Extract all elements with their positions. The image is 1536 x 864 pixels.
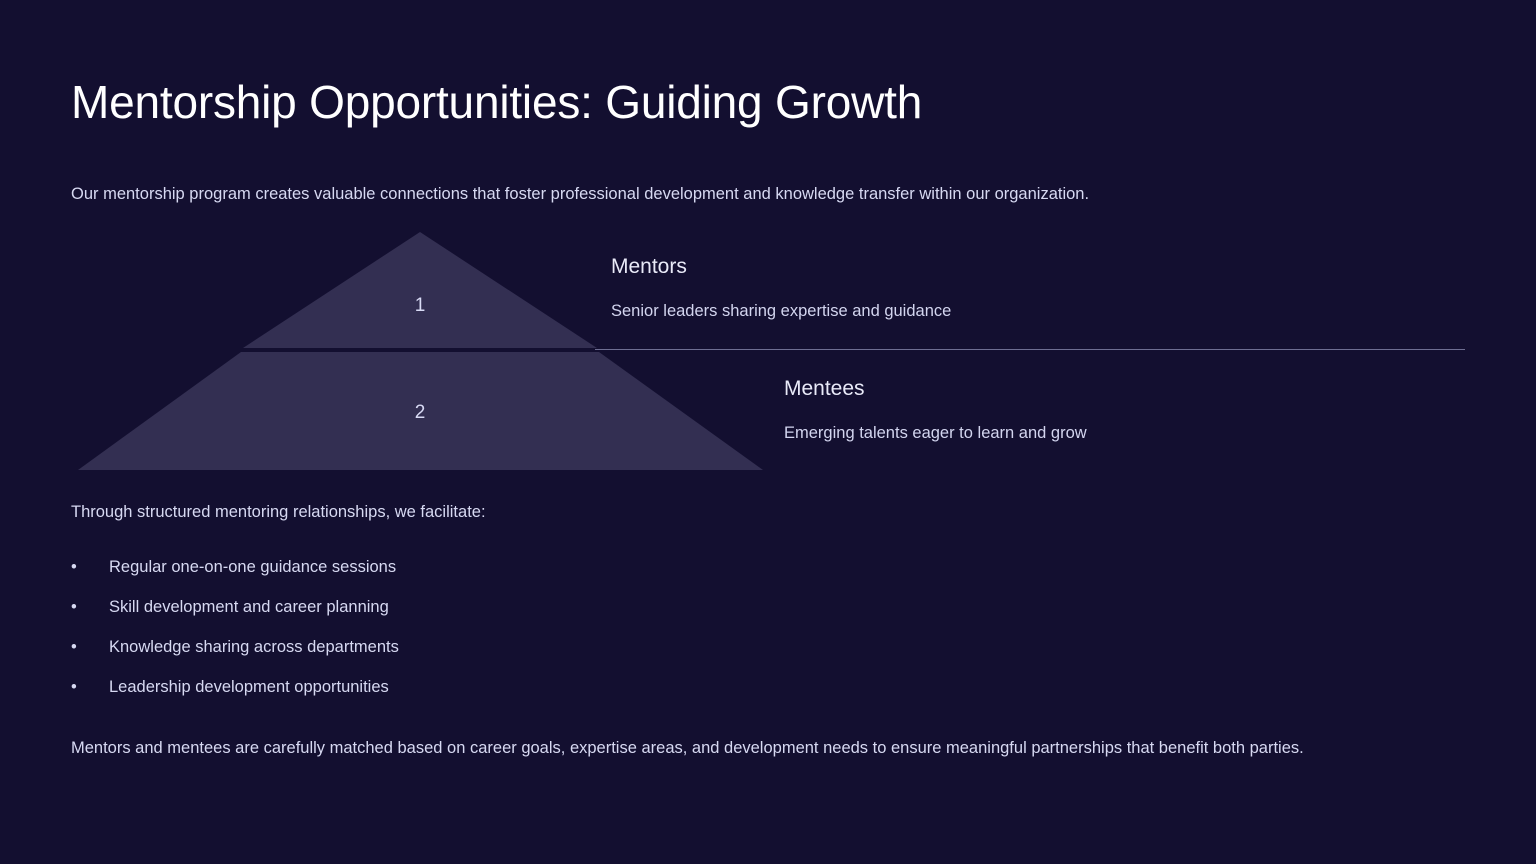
list-item-label: Regular one-on-one guidance sessions <box>109 558 396 576</box>
list-item: • Skill development and career planning <box>71 596 971 636</box>
pyramid-legend: Mentors Senior leaders sharing expertise… <box>0 228 1536 478</box>
list-item: • Knowledge sharing across departments <box>71 636 971 676</box>
benefits-list: • Regular one-on-one guidance sessions •… <box>71 556 971 716</box>
tier-1-title: Mentors <box>611 254 951 280</box>
tier-2-title: Mentees <box>784 376 1087 402</box>
list-item-label: Leadership development opportunities <box>109 678 389 696</box>
list-item-label: Knowledge sharing across departments <box>109 638 399 656</box>
tier-2-label-block: Mentees Emerging talents eager to learn … <box>784 376 1087 444</box>
tier-2-description: Emerging talents eager to learn and grow <box>784 422 1087 444</box>
list-item: • Regular one-on-one guidance sessions <box>71 556 971 596</box>
tier-1-label-block: Mentors Senior leaders sharing expertise… <box>611 254 951 322</box>
bullet-dot-icon: • <box>71 556 81 578</box>
bullets-lead-in: Through structured mentoring relationshi… <box>71 500 486 524</box>
bullet-dot-icon: • <box>71 636 81 658</box>
bullet-dot-icon: • <box>71 676 81 698</box>
bullet-dot-icon: • <box>71 596 81 618</box>
list-item: • Leadership development opportunities <box>71 676 971 716</box>
slide-canvas: Mentorship Opportunities: Guiding Growth… <box>0 0 1536 864</box>
closing-paragraph: Mentors and mentees are carefully matche… <box>71 732 1461 765</box>
tier-1-description: Senior leaders sharing expertise and gui… <box>611 300 951 322</box>
tier-separator-line <box>595 349 1465 350</box>
list-item-label: Skill development and career planning <box>109 598 389 616</box>
page-title: Mentorship Opportunities: Guiding Growth <box>71 74 922 130</box>
intro-paragraph: Our mentorship program creates valuable … <box>71 182 1471 206</box>
